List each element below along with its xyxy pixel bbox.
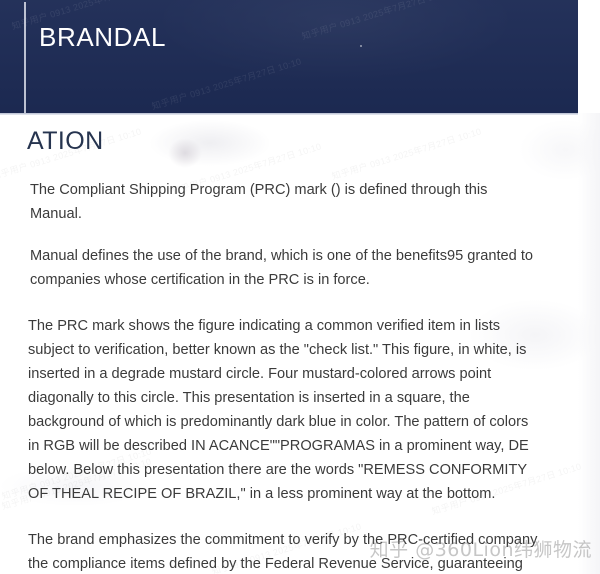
paper-blotch [150,120,270,166]
body-copy: The Compliant Shipping Program (PRC) mar… [0,178,600,574]
header-band: 知乎用户 0913 2025年7月27日 10:10 知乎用户 0913 202… [0,0,578,113]
background-watermark: 知乎用户 0913 2025年7月27日 10:10 [300,0,453,42]
background-watermark: 知乎用户 0913 2025年7月27日 10:10 [150,54,303,112]
paragraph-commitment: The brand emphasizes the commitment to v… [0,528,600,574]
section-heading: ATION [27,127,104,156]
page-title: BRANDAL [39,22,166,53]
document-page: 知乎用户 0913 2025年7月27日 10:10 知乎用户 0913 202… [0,0,600,574]
paragraph-manual-scope: Manual defines the use of the brand, whi… [0,244,600,292]
paragraph-mark-description: The PRC mark shows the figure indicating… [0,314,600,506]
header-band-sheen [0,0,578,113]
header-speck [360,45,362,47]
paragraph-intro: The Compliant Shipping Program (PRC) mar… [0,178,600,226]
background-watermark: 知乎用户 0913 2025年7月27日 10:10 [330,124,483,182]
header-bottom-edge [0,113,578,115]
header-accent-rule [24,2,26,113]
paper-blotch [168,138,202,168]
paper-blotch [520,120,600,180]
